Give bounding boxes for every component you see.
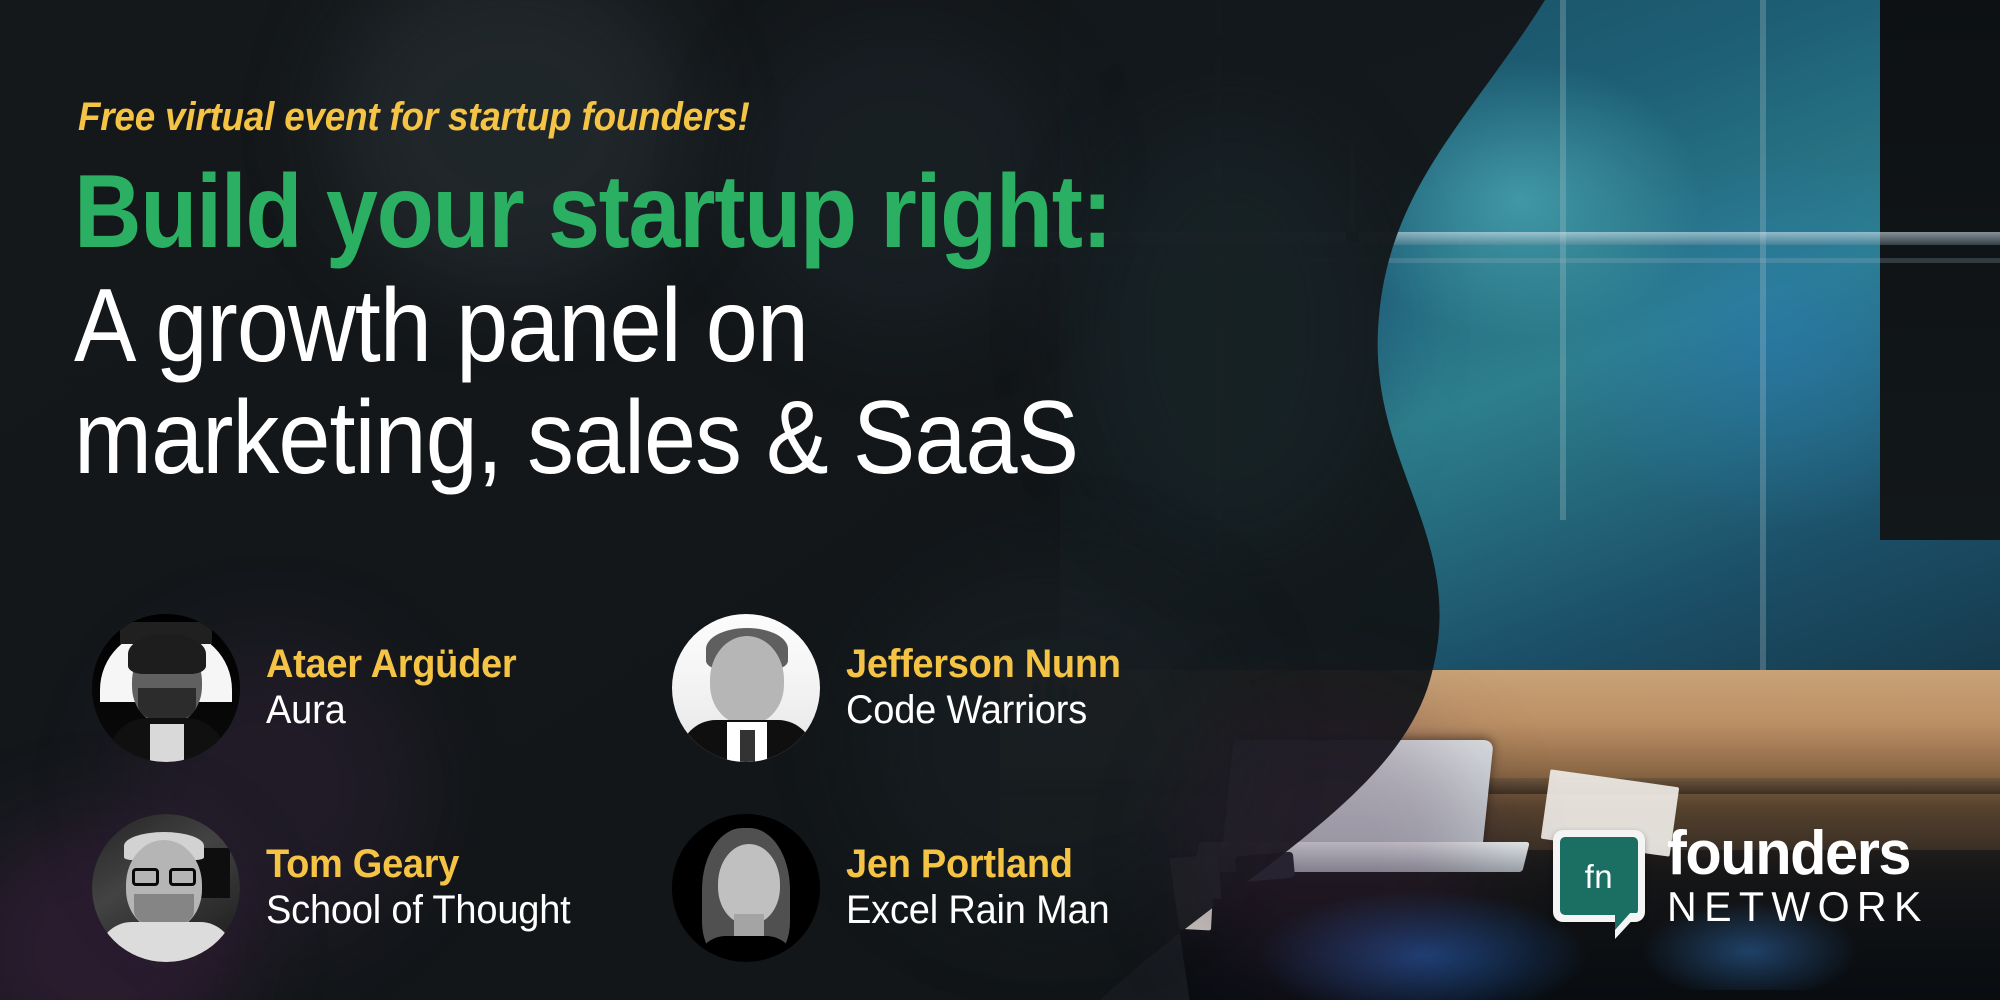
headline-line-3: marketing, sales & SaaS: [74, 386, 1406, 490]
speaker-org: Excel Rain Man: [846, 887, 1109, 934]
speaker-card: Jen Portland Excel Rain Man: [672, 788, 1252, 988]
fn-speech-bubble-icon: fn: [1553, 830, 1645, 922]
fn-monogram: fn: [1585, 860, 1614, 893]
headline-line-1: Build your startup right:: [74, 160, 1406, 264]
window-mullion: [1760, 0, 1766, 700]
avatar-jen-portland: [672, 814, 820, 962]
speaker-name: Ataer Argüder: [266, 642, 516, 687]
event-tagline: Free virtual event for startup founders!: [78, 95, 750, 140]
speaker-name: Tom Geary: [266, 842, 571, 887]
speaker-card: Ataer Argüder Aura: [92, 588, 672, 788]
speaker-name: Jen Portland: [846, 842, 1109, 887]
speaker-name: Jefferson Nunn: [846, 642, 1121, 687]
headline-block: Build your startup right: A growth panel…: [74, 160, 1554, 498]
speaker-org: Code Warriors: [846, 687, 1121, 734]
speaker-org: Aura: [266, 687, 516, 734]
logo-wordmark-network: NETWORK: [1667, 886, 1929, 928]
founders-network-logo: fn founders NETWORK: [1553, 825, 1934, 928]
avatar-jefferson-nunn: [672, 614, 820, 762]
speaker-card: Tom Geary School of Thought: [92, 788, 672, 988]
logo-wordmark-founders: founders: [1667, 825, 1923, 882]
avatar-ataer-arguder: [92, 614, 240, 762]
speaker-card: Jefferson Nunn Code Warriors: [672, 588, 1252, 788]
event-banner: Free virtual event for startup founders!…: [0, 0, 2000, 1000]
headline-line-2: A growth panel on: [74, 274, 1406, 378]
wall-right: [1880, 0, 2000, 540]
speakers-grid: Ataer Argüder Aura Jefferson Nunn Code W…: [92, 588, 1272, 988]
speaker-org: School of Thought: [266, 887, 571, 934]
content-layer: Free virtual event for startup founders!…: [0, 0, 1560, 1000]
bubble-tail-inner-icon: [1615, 912, 1631, 930]
avatar-tom-geary: [92, 814, 240, 962]
